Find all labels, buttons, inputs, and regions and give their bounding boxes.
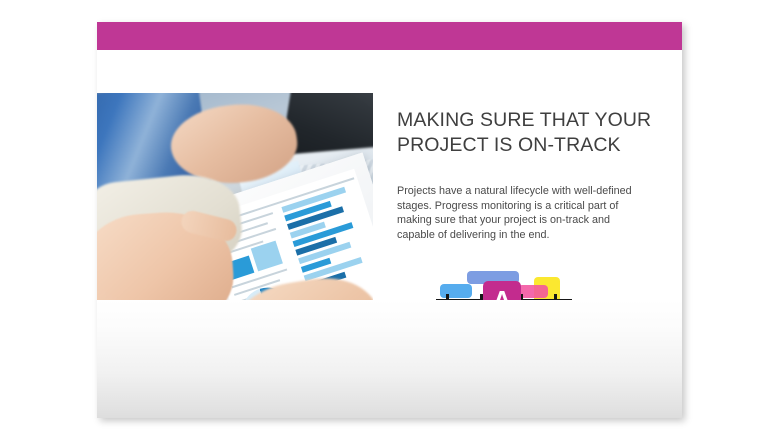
bar-orange-right <box>524 307 554 320</box>
bar-blue-left <box>440 284 472 298</box>
magenta-header-band <box>97 22 682 50</box>
gantt-timeline-icon: A <box>434 265 574 340</box>
timeline-tick-1 <box>446 294 449 307</box>
slide-photo <box>97 93 373 348</box>
gantt-letter-badge: A <box>483 281 521 319</box>
slide-text-column: MAKING SURE THAT YOUR PROJECT IS ON-TRAC… <box>397 108 655 242</box>
photo-composition <box>97 93 373 348</box>
slide-body-text: Projects have a natural lifecycle with w… <box>397 184 640 242</box>
bar-green-lime <box>452 312 482 329</box>
slide-title: MAKING SURE THAT YOUR PROJECT IS ON-TRAC… <box>397 108 655 158</box>
photo-soft-overlay <box>97 93 373 348</box>
timeline-tick-4 <box>554 294 557 307</box>
bar-orange-bottom <box>484 322 530 334</box>
presentation-slide: MAKING SURE THAT YOUR PROJECT IS ON-TRAC… <box>97 22 682 418</box>
